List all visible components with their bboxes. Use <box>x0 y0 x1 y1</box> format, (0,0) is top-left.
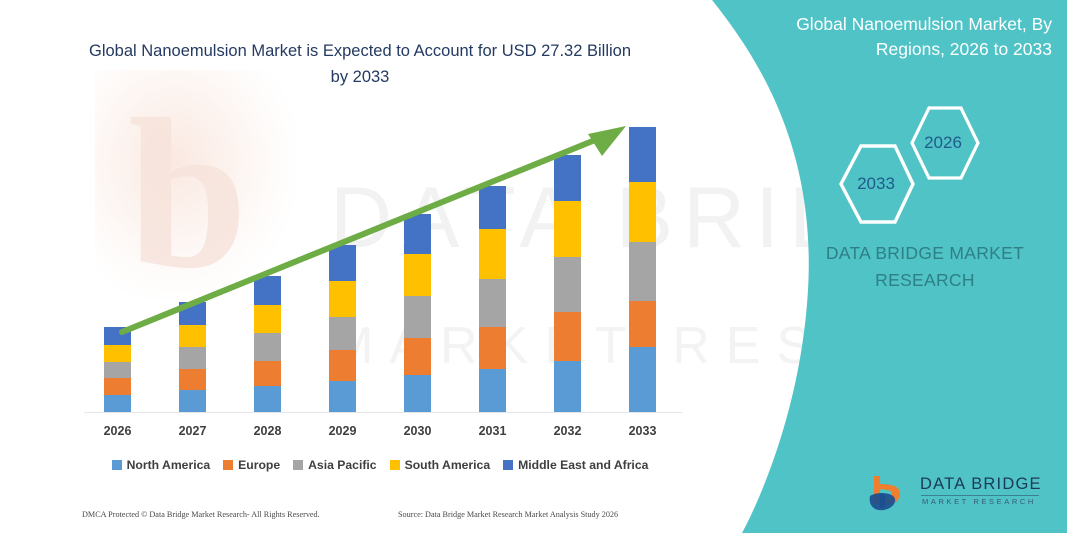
side-panel-title: Global Nanoemulsion Market, By Regions, … <box>742 12 1052 62</box>
logo-title: DATA BRIDGE <box>920 475 1042 494</box>
x-axis-tick-2029: 2029 <box>316 424 370 438</box>
chart-title: Global Nanoemulsion Market is Expected t… <box>80 38 640 90</box>
x-axis-tick-2031: 2031 <box>466 424 520 438</box>
x-axis-labels: 20262027202820292030203120322033 <box>80 424 680 444</box>
legend-label: North America <box>127 458 211 472</box>
legend-item-asia-pacific[interactable]: Asia Pacific <box>293 458 376 472</box>
x-axis-tick-2030: 2030 <box>391 424 445 438</box>
legend-label: Asia Pacific <box>308 458 376 472</box>
x-axis-tick-2027: 2027 <box>166 424 220 438</box>
legend-swatch-icon <box>503 460 513 470</box>
legend-label: Europe <box>238 458 280 472</box>
legend-item-south-america[interactable]: South America <box>390 458 491 472</box>
bar-segment-north-america <box>554 361 581 413</box>
infographic-root: b DATA BRIDGE MARKET RESEARCH Global Nan… <box>0 0 1067 533</box>
hexagon-badge-2033: 2033 <box>833 141 919 227</box>
chart-area: Global Nanoemulsion Market is Expected t… <box>0 0 712 533</box>
bar-segment-north-america <box>329 381 356 413</box>
legend-swatch-icon <box>112 460 122 470</box>
legend-label: South America <box>405 458 491 472</box>
chart-legend: North AmericaEuropeAsia PacificSouth Ame… <box>80 456 680 474</box>
legend-item-middle-east-and-africa[interactable]: Middle East and Africa <box>503 458 648 472</box>
chart-footer: DMCA Protected © Data Bridge Market Rese… <box>0 506 712 526</box>
legend-item-europe[interactable]: Europe <box>223 458 280 472</box>
bar-segment-europe <box>104 378 131 395</box>
logo-divider <box>921 495 1039 496</box>
legend-label: Middle East and Africa <box>518 458 648 472</box>
legend-swatch-icon <box>293 460 303 470</box>
x-axis-tick-2033: 2033 <box>616 424 670 438</box>
bar-segment-north-america <box>404 375 431 413</box>
side-panel-brand-text: DATA BRIDGE MARKET RESEARCH <box>800 240 1050 294</box>
hexagon-label-2033: 2033 <box>833 141 919 227</box>
growth-arrow-icon <box>80 100 680 360</box>
bar-segment-north-america <box>179 390 206 413</box>
bar-segment-europe <box>179 369 206 390</box>
legend-swatch-icon <box>223 460 233 470</box>
footer-copyright: DMCA Protected © Data Bridge Market Rese… <box>82 510 320 519</box>
bar-segment-europe <box>254 361 281 386</box>
bar-segment-asia-pacific <box>104 362 131 379</box>
chart-baseline <box>84 412 682 413</box>
logo-tagline: MARKET RESEARCH <box>922 497 1036 506</box>
footer-source: Source: Data Bridge Market Research Mark… <box>398 510 618 519</box>
logo-b-icon <box>866 474 912 514</box>
x-axis-tick-2032: 2032 <box>541 424 595 438</box>
bar-segment-north-america <box>104 395 131 413</box>
bar-segment-north-america <box>479 369 506 413</box>
x-axis-tick-2028: 2028 <box>241 424 295 438</box>
legend-item-north-america[interactable]: North America <box>112 458 211 472</box>
legend-swatch-icon <box>390 460 400 470</box>
x-axis-tick-2026: 2026 <box>91 424 145 438</box>
bar-segment-north-america <box>254 386 281 413</box>
data-bridge-logo: DATA BRIDGE MARKET RESEARCH <box>866 472 1042 516</box>
